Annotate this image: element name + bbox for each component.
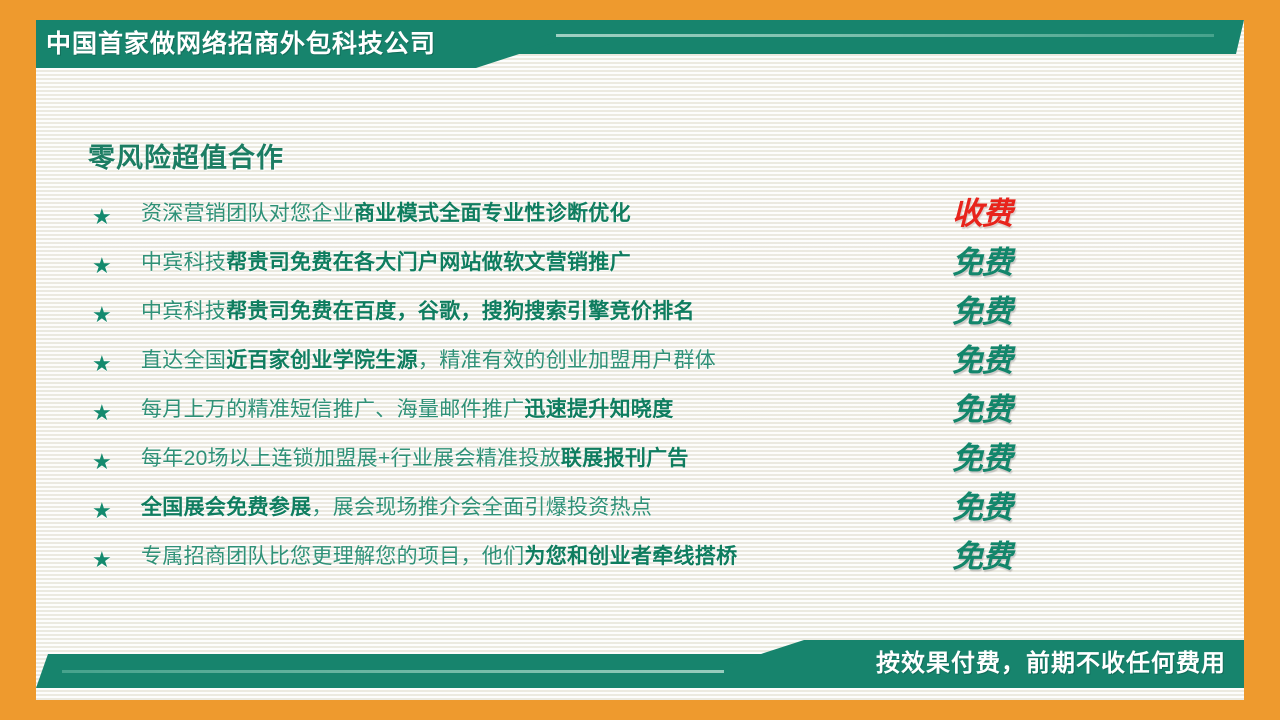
price-column: 收费免费免费免费免费免费免费免费 [952, 192, 1072, 584]
benefit-text-plain: 中宾科技 [141, 300, 226, 323]
star-bullet-icon: ★ [92, 398, 112, 428]
header-accent-bar [476, 20, 1244, 54]
benefit-text: 专属招商团队比您更理解您的项目，他们为您和创业者牵线搭桥 [141, 541, 737, 573]
benefit-row: ★中宾科技帮贵司免费在各大门户网站做软文营销推广 [88, 247, 1048, 296]
price-label-free: 免费 [952, 486, 1072, 535]
benefit-text-plain: 资深营销团队对您企业 [141, 202, 354, 225]
slide-header: 中国首家做网络招商外包科技公司 [36, 20, 1244, 80]
benefit-text-emphasis: 全国展会免费参展 [141, 496, 311, 519]
price-label-free: 免费 [952, 339, 1072, 388]
benefit-text-plain: 每月上万的精准短信推广、海量邮件推广 [141, 398, 524, 421]
price-label-paid: 收费 [952, 192, 1072, 241]
benefit-text-emphasis: 商业模式全面专业性诊断优化 [354, 202, 631, 225]
page-title: 零风险超值合作 [88, 136, 284, 175]
benefit-text-plain: 中宾科技 [141, 251, 226, 274]
price-label-free: 免费 [952, 437, 1072, 486]
benefit-text-plain-tail: ，精准有效的创业加盟用户群体 [418, 349, 716, 372]
benefit-text-emphasis: 帮贵司免费在百度，谷歌，搜狗搜索引擎竞价排名 [226, 300, 695, 323]
star-bullet-icon: ★ [92, 251, 112, 281]
price-label-free: 免费 [952, 241, 1072, 290]
benefit-text: 资深营销团队对您企业商业模式全面专业性诊断优化 [141, 198, 631, 230]
benefit-text-plain: 每年20场以上连锁加盟展+行业展会精准投放 [141, 447, 561, 470]
benefit-row: ★资深营销团队对您企业商业模式全面专业性诊断优化 [88, 198, 1048, 247]
star-bullet-icon: ★ [92, 202, 112, 232]
slide-canvas: 中国首家做网络招商外包科技公司 零风险超值合作 ★资深营销团队对您企业商业模式全… [0, 0, 1280, 720]
star-bullet-icon: ★ [92, 300, 112, 330]
price-label-free: 免费 [952, 535, 1072, 584]
benefit-text-plain: 直达全国 [141, 349, 226, 372]
benefit-text-emphasis: 联展报刊广告 [561, 447, 689, 470]
star-bullet-icon: ★ [92, 496, 112, 526]
benefit-list: ★资深营销团队对您企业商业模式全面专业性诊断优化★中宾科技帮贵司免费在各大门户网… [88, 198, 1048, 590]
benefit-text-plain: 专属招商团队比您更理解您的项目，他们 [141, 545, 524, 568]
star-bullet-icon: ★ [92, 349, 112, 379]
benefit-text-plain-tail: ，展会现场推介会全面引爆投资热点 [311, 496, 652, 519]
benefit-row: ★每年20场以上连锁加盟展+行业展会精准投放联展报刊广告 [88, 443, 1048, 492]
benefit-text: 中宾科技帮贵司免费在百度，谷歌，搜狗搜索引擎竞价排名 [141, 296, 695, 328]
price-label-free: 免费 [952, 290, 1072, 339]
price-label-free: 免费 [952, 388, 1072, 437]
footer-title-block: 按效果付费，前期不收任何费用 [724, 640, 1244, 688]
header-title-block: 中国首家做网络招商外包科技公司 [36, 20, 556, 68]
benefit-row: ★专属招商团队比您更理解您的项目，他们为您和创业者牵线搭桥 [88, 541, 1048, 590]
benefit-text: 每月上万的精准短信推广、海量邮件推广迅速提升知晓度 [141, 394, 674, 426]
benefit-row: ★全国展会免费参展，展会现场推介会全面引爆投资热点 [88, 492, 1048, 541]
benefit-text: 全国展会免费参展，展会现场推介会全面引爆投资热点 [141, 492, 652, 524]
footer-title: 按效果付费，前期不收任何费用 [876, 644, 1226, 684]
benefit-text-emphasis: 为您和创业者牵线搭桥 [524, 545, 737, 568]
star-bullet-icon: ★ [92, 545, 112, 575]
benefit-row: ★中宾科技帮贵司免费在百度，谷歌，搜狗搜索引擎竞价排名 [88, 296, 1048, 345]
benefit-text-emphasis: 近百家创业学院生源 [226, 349, 418, 372]
header-accent-line [514, 34, 1214, 37]
benefit-row: ★每月上万的精准短信推广、海量邮件推广迅速提升知晓度 [88, 394, 1048, 443]
star-bullet-icon: ★ [92, 447, 112, 477]
benefit-text: 中宾科技帮贵司免费在各大门户网站做软文营销推广 [141, 247, 631, 279]
benefit-text-emphasis: 迅速提升知晓度 [524, 398, 673, 421]
header-title: 中国首家做网络招商外包科技公司 [46, 24, 436, 64]
benefit-row: ★直达全国近百家创业学院生源，精准有效的创业加盟用户群体 [88, 345, 1048, 394]
benefit-text: 直达全国近百家创业学院生源，精准有效的创业加盟用户群体 [141, 345, 716, 377]
benefit-text-emphasis: 帮贵司免费在各大门户网站做软文营销推广 [226, 251, 631, 274]
benefit-text: 每年20场以上连锁加盟展+行业展会精准投放联展报刊广告 [141, 443, 689, 475]
slide-footer: 按效果付费，前期不收任何费用 [36, 640, 1244, 700]
